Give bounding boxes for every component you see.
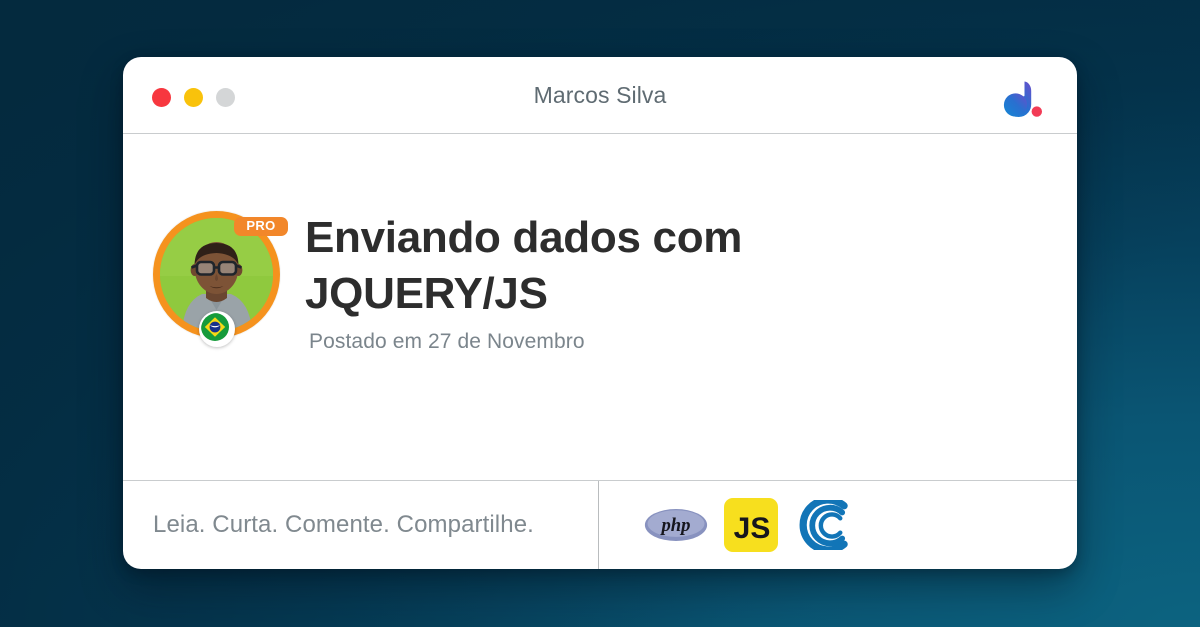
- post-card: Marcos Silva: [123, 57, 1077, 569]
- post-header: PRO Enviando dados com JQUERY/JS Postado…: [153, 205, 1037, 354]
- card-body: PRO Enviando dados com JQUERY/JS Postado…: [123, 134, 1077, 480]
- author-avatar[interactable]: PRO: [153, 211, 280, 338]
- footer-tagline-area: Leia. Curta. Comente. Compartilhe.: [123, 481, 599, 569]
- screenshot-stage: Marcos Silva: [0, 0, 1200, 627]
- post-date: Postado em 27 de Novembro: [309, 330, 845, 354]
- php-icon[interactable]: php: [644, 508, 708, 542]
- svg-text:php: php: [659, 515, 690, 536]
- svg-text:JS: JS: [734, 512, 771, 545]
- window-title: Marcos Silva: [123, 57, 1077, 133]
- post-text-block: Enviando dados com JQUERY/JS Postado em …: [305, 205, 845, 354]
- footer-tagline: Leia. Curta. Comente. Compartilhe.: [153, 511, 534, 539]
- brazil-flag-badge: [199, 311, 235, 347]
- footer-tech-icons: php JS: [599, 481, 1077, 569]
- post-title: Enviando dados com JQUERY/JS: [305, 210, 845, 322]
- javascript-icon[interactable]: JS: [724, 498, 778, 552]
- jquery-icon[interactable]: [794, 500, 850, 550]
- pro-badge: PRO: [234, 217, 288, 236]
- window-titlebar: Marcos Silva: [123, 57, 1077, 134]
- brand-droplet-icon[interactable]: [995, 77, 1053, 119]
- card-footer: Leia. Curta. Comente. Compartilhe. php: [123, 480, 1077, 569]
